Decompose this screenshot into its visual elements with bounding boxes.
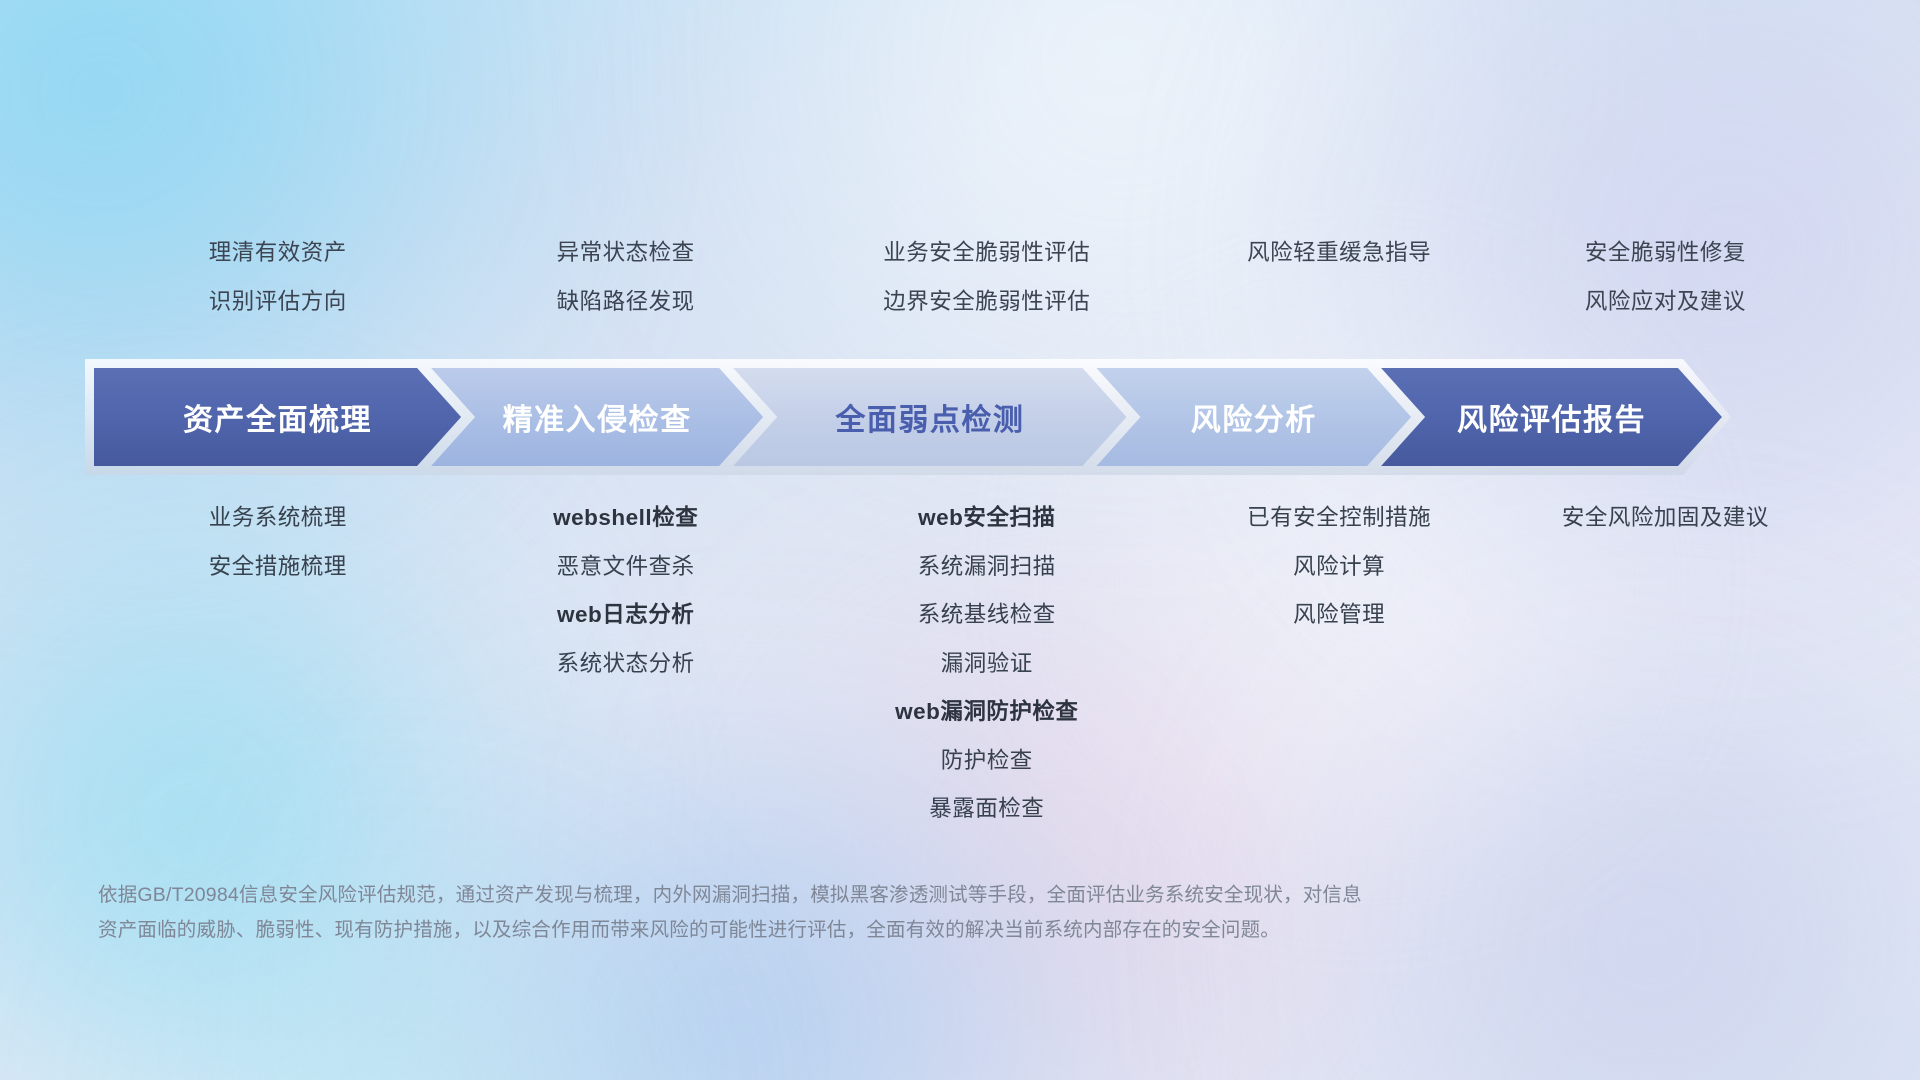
stage-arrow-label: 精准入侵检查 xyxy=(503,395,692,439)
stage-top-labels-1: 理清有效资产识别评估方向 xyxy=(95,228,460,326)
top-label-item: 识别评估方向 xyxy=(95,277,460,326)
stage-top-labels-2: 异常状态检查缺陷路径发现 xyxy=(460,228,791,326)
stage-detail-list-2: webshell检查恶意文件查杀web日志分析系统状态分析 xyxy=(460,494,791,688)
stage-arrow-1[interactable]: 资产全面梳理 xyxy=(94,368,461,466)
stage-top-labels-4: 风险轻重缓急指导 xyxy=(1182,228,1495,326)
stage-arrow-label: 全面弱点检测 xyxy=(835,395,1024,439)
detail-list-item: web安全扫描 xyxy=(791,494,1183,543)
detail-list-item: 恶意文件查杀 xyxy=(460,543,791,592)
stage-top-labels-row: 理清有效资产识别评估方向异常状态检查缺陷路径发现业务安全脆弱性评估边界安全脆弱性… xyxy=(95,228,1835,326)
stage-arrow-label: 资产全面梳理 xyxy=(183,395,372,439)
top-label-item: 边界安全脆弱性评估 xyxy=(791,277,1183,326)
detail-list-item: 漏洞验证 xyxy=(791,640,1183,689)
detail-list-item: 暴露面检查 xyxy=(791,785,1183,834)
stage-detail-list-1: 业务系统梳理安全措施梳理 xyxy=(95,494,460,591)
detail-list-item: web漏洞防护检查 xyxy=(791,688,1183,737)
detail-list-item: 防护检查 xyxy=(791,737,1183,786)
stage-detail-list-4: 已有安全控制措施风险计算风险管理 xyxy=(1182,494,1495,640)
top-label-item: 异常状态检查 xyxy=(460,228,791,277)
top-label-item: 安全脆弱性修复 xyxy=(1496,228,1835,277)
stage-top-labels-3: 业务安全脆弱性评估边界安全脆弱性评估 xyxy=(791,228,1183,326)
footer-description: 依据GB/T20984信息安全风险评估规范，通过资产发现与梳理，内外网漏洞扫描，… xyxy=(98,878,1658,948)
top-label-item: 风险应对及建议 xyxy=(1496,277,1835,326)
stage-detail-lists-row: 业务系统梳理安全措施梳理webshell检查恶意文件查杀web日志分析系统状态分… xyxy=(95,494,1835,834)
top-label-item: 缺陷路径发现 xyxy=(460,277,791,326)
detail-list-item: webshell检查 xyxy=(460,494,791,543)
footer-line-1: 依据GB/T20984信息安全风险评估规范，通过资产发现与梳理，内外网漏洞扫描，… xyxy=(98,878,1658,913)
detail-list-item: web日志分析 xyxy=(460,591,791,640)
process-diagram: 理清有效资产识别评估方向异常状态检查缺陷路径发现业务安全脆弱性评估边界安全脆弱性… xyxy=(0,0,1920,1080)
stage-arrow-2[interactable]: 精准入侵检查 xyxy=(431,368,763,466)
detail-list-item: 安全风险加固及建议 xyxy=(1496,494,1835,543)
stage-arrow-label: 风险评估报告 xyxy=(1457,395,1646,439)
stage-arrow-4[interactable]: 风险分析 xyxy=(1096,368,1411,466)
stage-top-labels-5: 安全脆弱性修复风险应对及建议 xyxy=(1496,228,1835,326)
stage-arrow-label: 风险分析 xyxy=(1191,395,1317,439)
stage-arrow-5[interactable]: 风险评估报告 xyxy=(1381,368,1722,466)
detail-list-item: 已有安全控制措施 xyxy=(1182,494,1495,543)
detail-list-item: 风险计算 xyxy=(1182,543,1495,592)
top-label-item: 风险轻重缓急指导 xyxy=(1182,228,1495,277)
stage-detail-list-3: web安全扫描系统漏洞扫描系统基线检查漏洞验证web漏洞防护检查防护检查暴露面检… xyxy=(791,494,1183,834)
detail-list-item: 风险管理 xyxy=(1182,591,1495,640)
detail-list-item: 系统状态分析 xyxy=(460,640,791,689)
top-label-item: 理清有效资产 xyxy=(95,228,460,277)
detail-list-item: 安全措施梳理 xyxy=(95,543,460,592)
top-label-item: 业务安全脆弱性评估 xyxy=(791,228,1183,277)
detail-list-item: 系统漏洞扫描 xyxy=(791,543,1183,592)
stage-arrow-band: 资产全面梳理精准入侵检查全面弱点检测风险分析风险评估报告 xyxy=(94,368,1842,466)
footer-line-2: 资产面临的威胁、脆弱性、现有防护措施，以及综合作用而带来风险的可能性进行评估，全… xyxy=(98,913,1658,948)
stage-detail-list-5: 安全风险加固及建议 xyxy=(1496,494,1835,543)
stage-arrow-3[interactable]: 全面弱点检测 xyxy=(733,368,1126,466)
detail-list-item: 系统基线检查 xyxy=(791,591,1183,640)
detail-list-item: 业务系统梳理 xyxy=(95,494,460,543)
